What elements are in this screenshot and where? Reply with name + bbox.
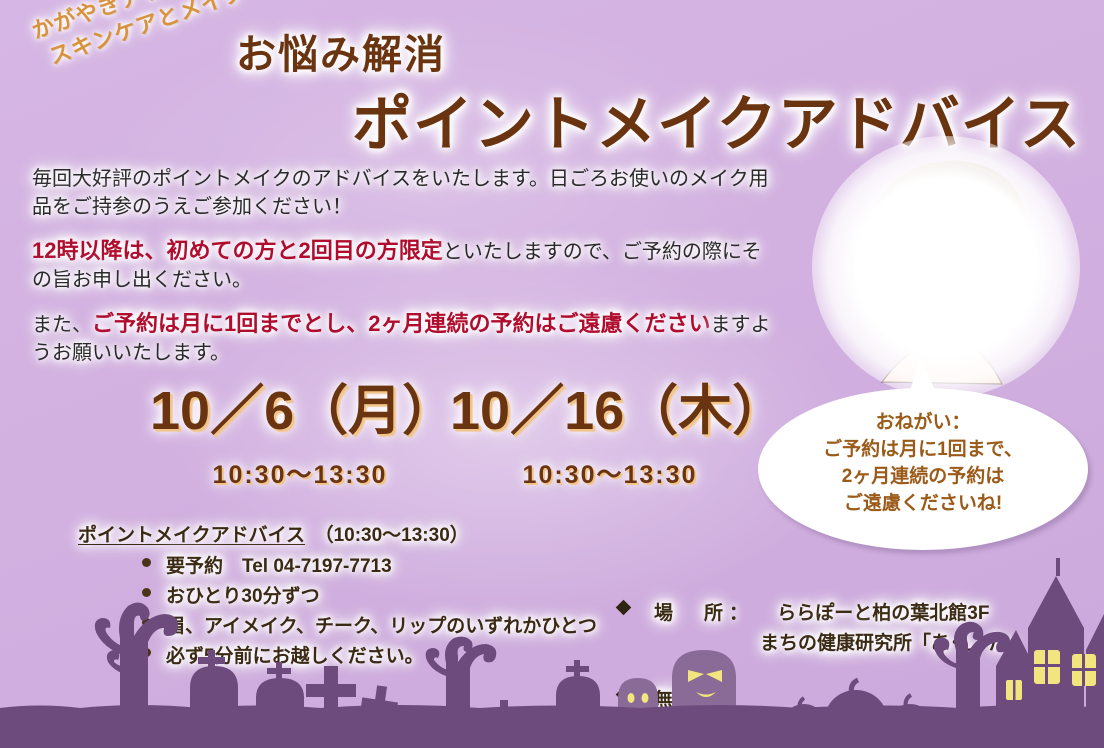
paragraph-3-prefix: また、 xyxy=(32,314,92,336)
subtitle: お悩み解消 xyxy=(236,22,446,80)
speech-bubble-text: おねがい： ご予約は月に1回まで、 2ヶ月連続の予約は ご遠慮くださいね! xyxy=(758,410,1088,518)
paragraph-3-highlight: ご予約は月に1回までとし、2ヶ月連続の予約はご遠慮ください xyxy=(92,311,710,336)
paragraph-2-highlight: 12時以降は、初めての方と2回目の方限定 xyxy=(32,238,443,263)
diagonal-tagline: かがやきアップの スキンケアとメイク xyxy=(28,0,270,131)
paragraph-1: 毎回大好評のポイントメイクのアドバイスをいたします。日ごろお使いのメイク用品をご… xyxy=(32,165,777,222)
bubble-line-4: ご遠慮くださいね! xyxy=(758,491,1088,518)
bubble-line-2: ご予約は月に1回まで、 xyxy=(758,437,1088,464)
bubble-line-3: 2ヶ月連続の予約は xyxy=(758,464,1088,491)
details-heading-time: （10:30〜13:30） xyxy=(324,525,469,546)
event-date-2-value: 10／16（木） xyxy=(450,366,770,445)
event-date-1: 10／6（月） 10:30〜13:30 xyxy=(150,366,450,491)
paragraph-3: また、ご予約は月に1回までとし、2ヶ月連続の予約はご遠慮くださいますようお願いい… xyxy=(32,308,777,368)
details-heading: ポイントメイクアドバイス （10:30〜13:30） xyxy=(78,520,597,547)
halloween-silhouette-icon xyxy=(0,558,1104,748)
halloween-footer-decoration xyxy=(0,558,1104,748)
body-copy: 毎回大好評のポイントメイクのアドバイスをいたします。日ごろお使いのメイク用品をご… xyxy=(32,165,777,380)
speech-bubble: おねがい： ご予約は月に1回まで、 2ヶ月連続の予約は ご遠慮くださいね! xyxy=(758,358,1088,550)
poster-canvas: かがやきアップの スキンケアとメイク お悩み解消 ポイントメイクアドバイス 毎回… xyxy=(0,0,1104,748)
details-heading-underlined: ポイントメイクアドバイス xyxy=(78,525,305,546)
event-date-2: 10／16（木） 10:30〜13:30 xyxy=(450,366,770,491)
event-date-1-value: 10／6（月） xyxy=(150,366,450,445)
paragraph-2: 12時以降は、初めての方と2回目の方限定といたしますので、ご予約の際にその旨お申… xyxy=(32,235,777,295)
bubble-line-1: おねがい： xyxy=(758,410,1088,437)
event-date-2-time: 10:30〜13:30 xyxy=(450,455,770,491)
event-date-1-time: 10:30〜13:30 xyxy=(150,455,450,491)
